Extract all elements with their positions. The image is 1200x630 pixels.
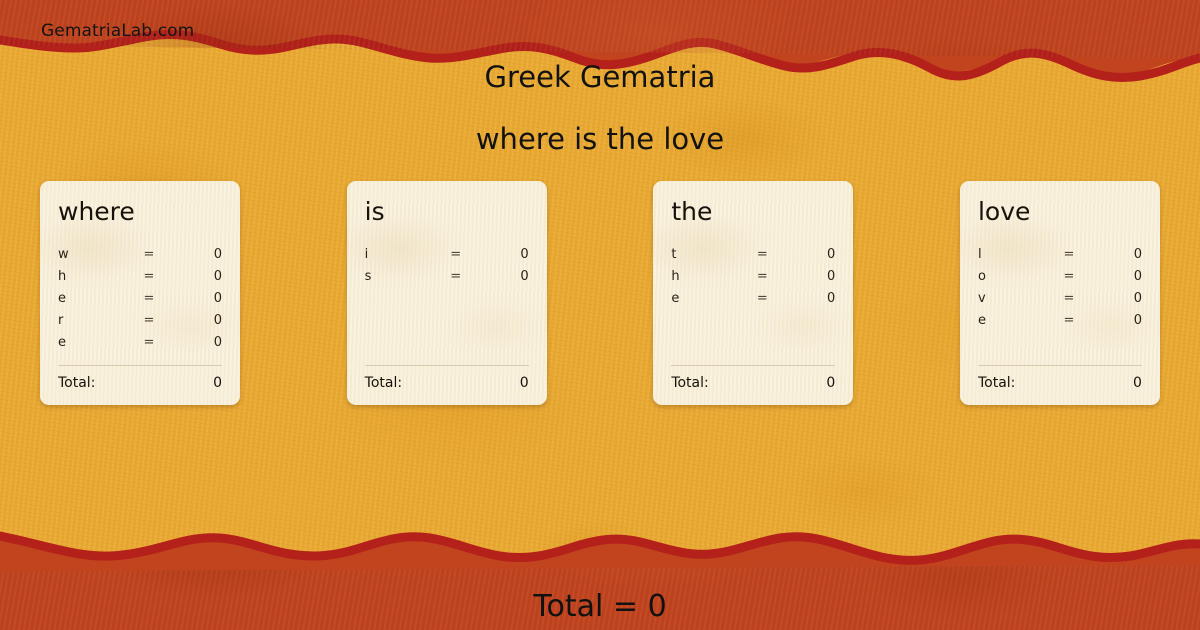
letter-row: s = 0: [365, 265, 529, 287]
card-total-label: Total:: [58, 375, 213, 391]
letter-label: l: [978, 247, 1054, 262]
letter-row: w = 0: [58, 243, 222, 265]
equals-sign: =: [1054, 313, 1084, 328]
letter-value: 0: [777, 247, 835, 262]
card-total-value: 0: [826, 375, 835, 391]
letter-row: i = 0: [365, 243, 529, 265]
letter-label: s: [365, 269, 441, 284]
letter-row: e = 0: [978, 309, 1142, 331]
site-logo[interactable]: GematriaLab.com: [41, 21, 194, 41]
card-word-title: the: [671, 199, 835, 224]
equals-sign: =: [1054, 247, 1084, 262]
word-card[interactable]: is i = 0 s = 0 Total: 0: [347, 181, 547, 405]
letter-value-rows: t = 0 h = 0 e = 0: [671, 243, 835, 365]
letter-row: h = 0: [58, 265, 222, 287]
letter-row: e = 0: [58, 331, 222, 353]
letter-label: o: [978, 269, 1054, 284]
word-card[interactable]: love l = 0 o = 0 v = 0 e: [960, 181, 1160, 405]
letter-value-rows: i = 0 s = 0: [365, 243, 529, 365]
equals-sign: =: [441, 247, 471, 262]
equals-sign: =: [747, 269, 777, 284]
card-divider: [671, 365, 835, 366]
letter-label: v: [978, 291, 1054, 306]
letter-row: v = 0: [978, 287, 1142, 309]
equals-sign: =: [1054, 291, 1084, 306]
letter-label: r: [58, 313, 134, 328]
card-word-title: where: [58, 199, 222, 224]
card-divider: [58, 365, 222, 366]
grand-total: Total = 0: [0, 589, 1200, 624]
word-card-list: where w = 0 h = 0 e = 0 r: [40, 181, 1160, 405]
card-total-value: 0: [1133, 375, 1142, 391]
letter-label: t: [671, 247, 747, 262]
word-card[interactable]: the t = 0 h = 0 e = 0: [653, 181, 853, 405]
letter-row: e = 0: [671, 287, 835, 309]
equals-sign: =: [134, 291, 164, 306]
letter-row: l = 0: [978, 243, 1142, 265]
equals-sign: =: [134, 335, 164, 350]
letter-value: 0: [1084, 291, 1142, 306]
letter-value: 0: [1084, 247, 1142, 262]
card-total-label: Total:: [671, 375, 826, 391]
letter-label: e: [58, 291, 134, 306]
letter-value: 0: [164, 291, 222, 306]
letter-value: 0: [471, 247, 529, 262]
letter-value: 0: [164, 313, 222, 328]
letter-value: 0: [164, 269, 222, 284]
letter-label: w: [58, 247, 134, 262]
card-total-value: 0: [520, 375, 529, 391]
letter-value: 0: [471, 269, 529, 284]
letter-row: h = 0: [671, 265, 835, 287]
letter-row: o = 0: [978, 265, 1142, 287]
letter-value-rows: l = 0 o = 0 v = 0 e = 0: [978, 243, 1142, 365]
card-total-row: Total: 0: [978, 375, 1142, 391]
poster-canvas: GematriaLab.com Greek Gematria where is …: [0, 0, 1200, 630]
letter-value: 0: [777, 269, 835, 284]
equals-sign: =: [134, 247, 164, 262]
letter-label: e: [58, 335, 134, 350]
card-total-label: Total:: [365, 375, 520, 391]
card-word-title: is: [365, 199, 529, 224]
letter-label: h: [58, 269, 134, 284]
equals-sign: =: [747, 291, 777, 306]
letter-value-rows: w = 0 h = 0 e = 0 r = 0: [58, 243, 222, 365]
letter-value: 0: [1084, 269, 1142, 284]
card-total-row: Total: 0: [58, 375, 222, 391]
letter-label: i: [365, 247, 441, 262]
card-total-row: Total: 0: [671, 375, 835, 391]
page-title: Greek Gematria: [0, 60, 1200, 94]
equals-sign: =: [441, 269, 471, 284]
equals-sign: =: [1054, 269, 1084, 284]
equals-sign: =: [134, 269, 164, 284]
letter-label: e: [671, 291, 747, 306]
card-divider: [978, 365, 1142, 366]
letter-value: 0: [164, 247, 222, 262]
word-card[interactable]: where w = 0 h = 0 e = 0 r: [40, 181, 240, 405]
card-total-value: 0: [213, 375, 222, 391]
phrase-heading: where is the love: [0, 122, 1200, 156]
card-word-title: love: [978, 199, 1142, 224]
letter-row: t = 0: [671, 243, 835, 265]
letter-value: 0: [164, 335, 222, 350]
card-divider: [365, 365, 529, 366]
letter-row: r = 0: [58, 309, 222, 331]
equals-sign: =: [134, 313, 164, 328]
letter-value: 0: [1084, 313, 1142, 328]
equals-sign: =: [747, 247, 777, 262]
letter-label: h: [671, 269, 747, 284]
letter-value: 0: [777, 291, 835, 306]
card-total-label: Total:: [978, 375, 1133, 391]
letter-label: e: [978, 313, 1054, 328]
letter-row: e = 0: [58, 287, 222, 309]
card-total-row: Total: 0: [365, 375, 529, 391]
